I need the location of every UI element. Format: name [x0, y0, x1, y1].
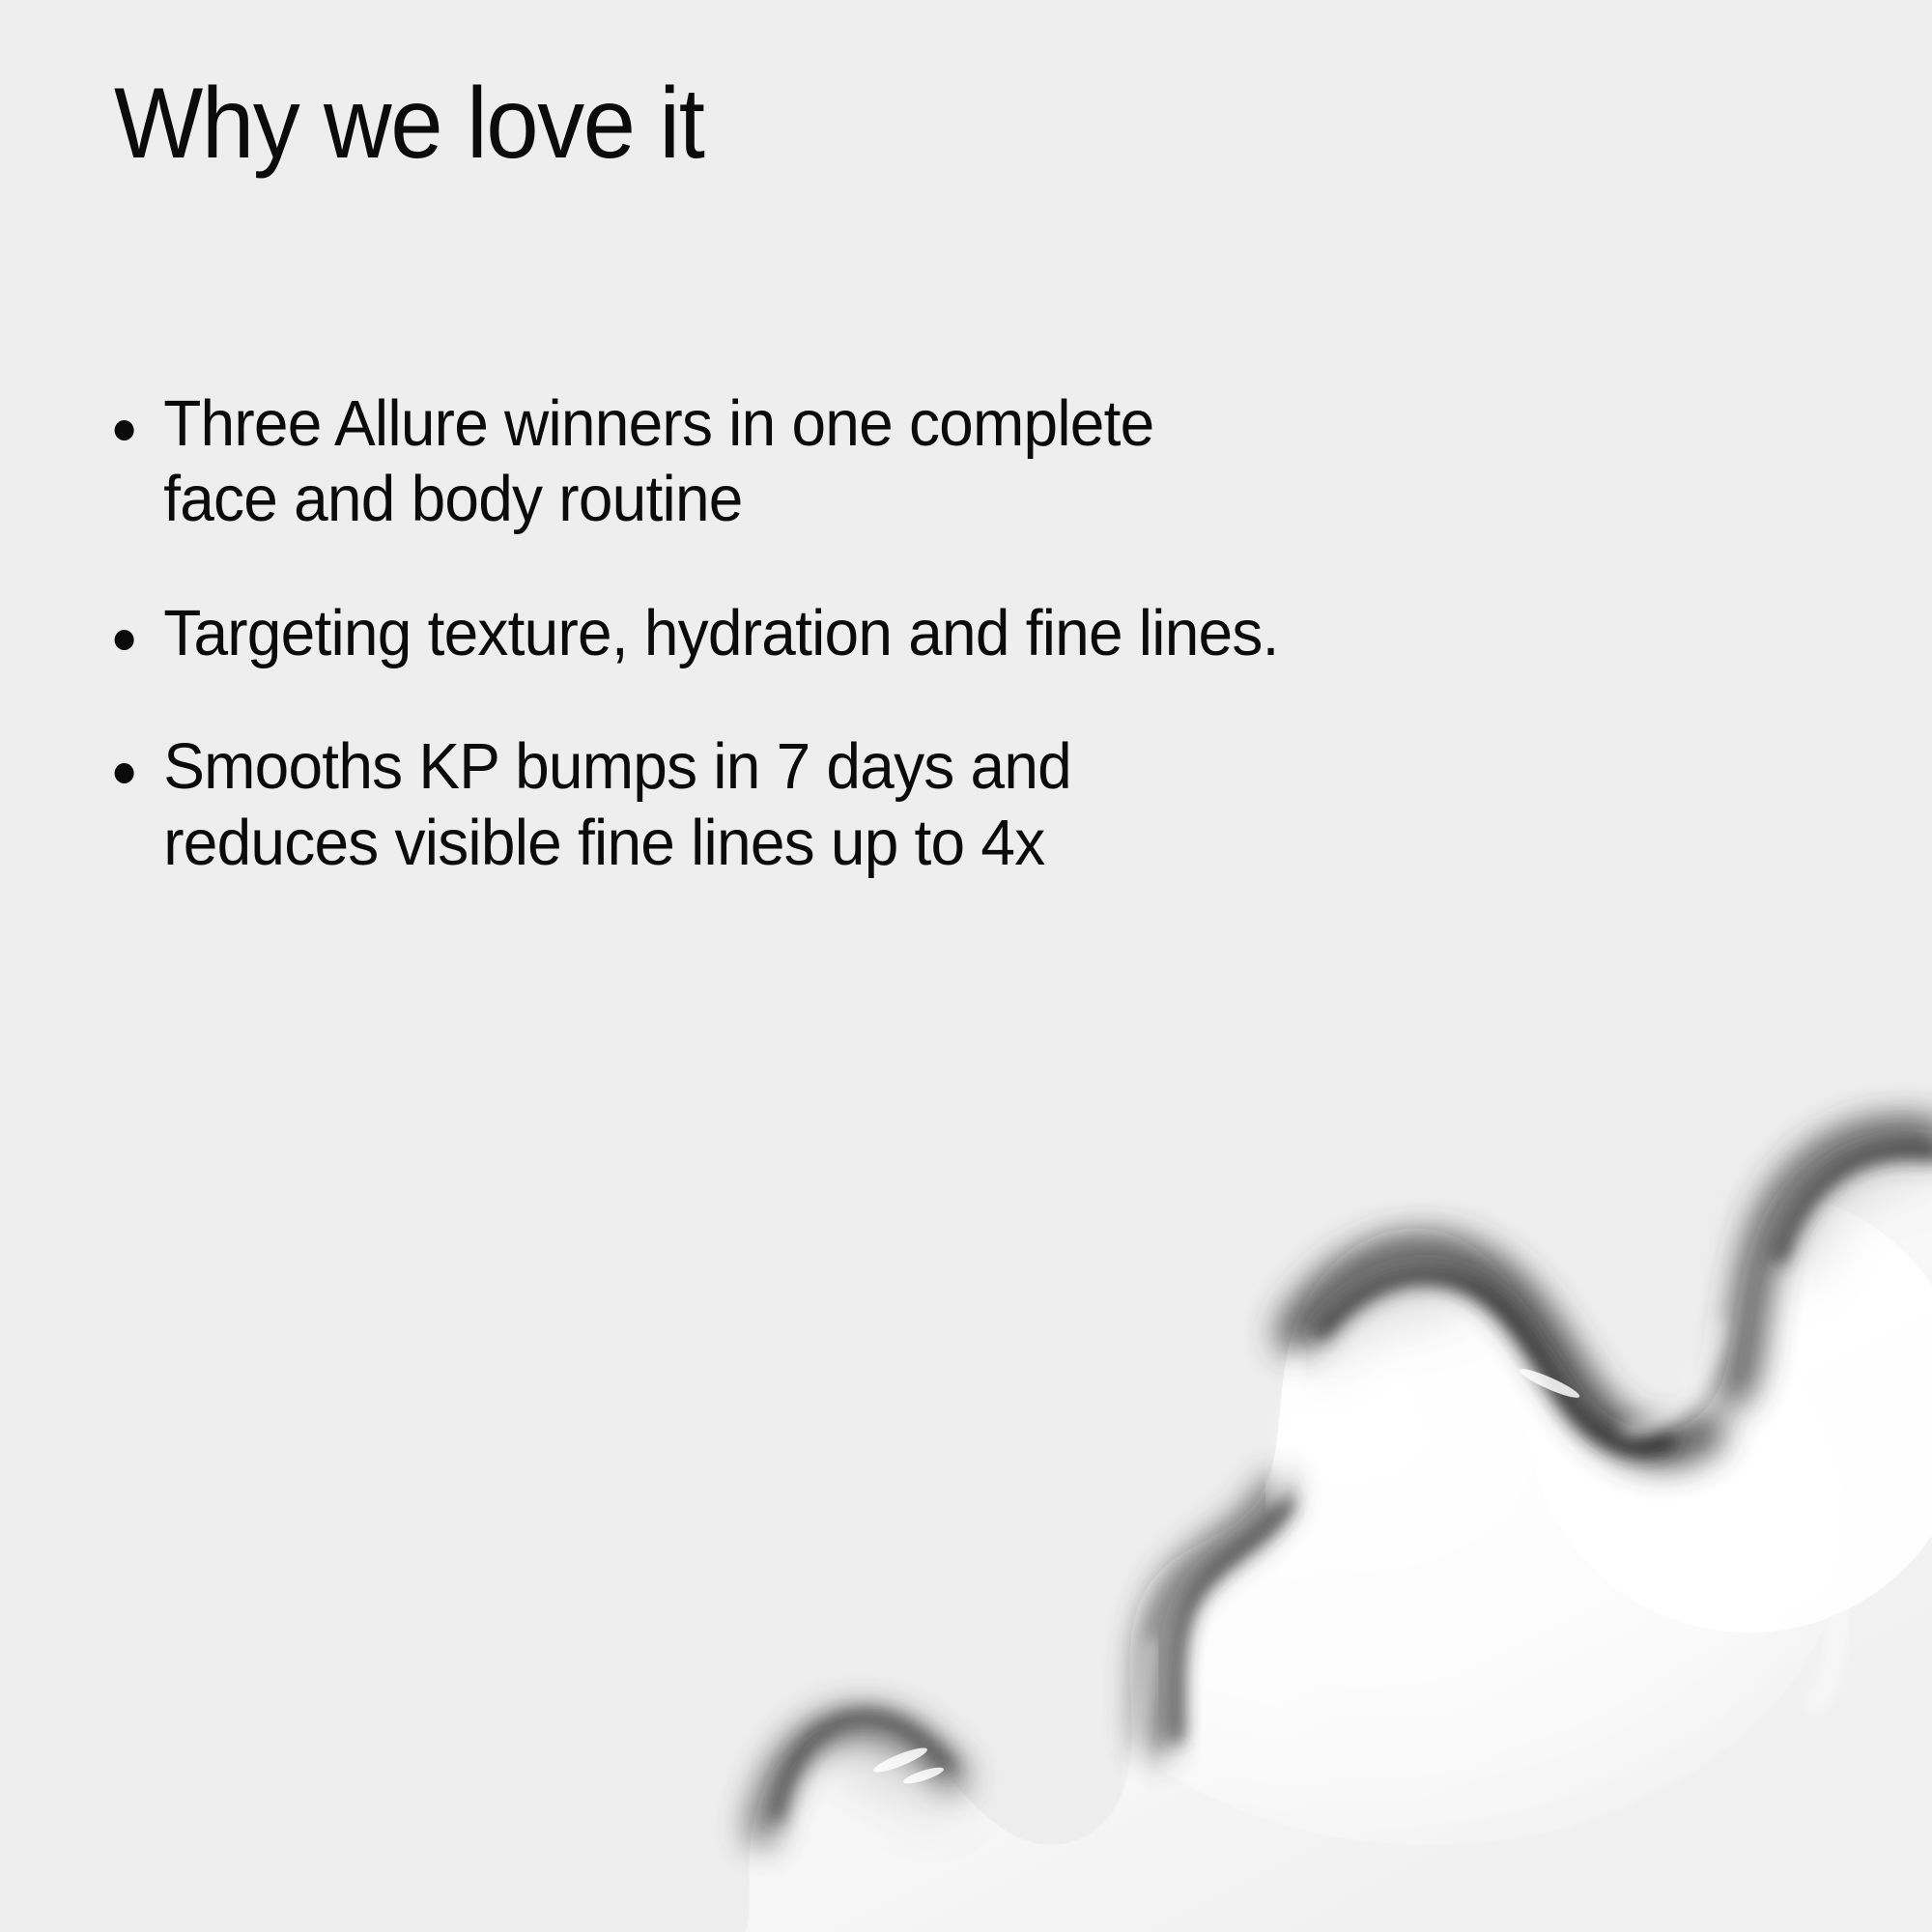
list-item-label: Three Allure winners in one complete fac…: [163, 386, 1767, 538]
list-item-label: Smooths KP bumps in 7 days and reduces v…: [163, 729, 1767, 881]
list-item: Three Allure winners in one complete fac…: [106, 386, 1767, 538]
list-item: Targeting texture, hydration and fine li…: [106, 596, 1767, 671]
bullet-point-icon: [115, 763, 134, 783]
product-benefits-card: Why we love it Three Allure winners in o…: [0, 0, 1932, 1932]
bullet-point-icon: [115, 630, 134, 650]
page-title: Why we love it: [114, 73, 703, 174]
benefits-list: Three Allure winners in one complete fac…: [106, 386, 1845, 881]
list-item-label: Targeting texture, hydration and fine li…: [163, 596, 1767, 671]
list-item: Smooths KP bumps in 7 days and reduces v…: [106, 729, 1767, 881]
clear-gel-serum-swatch-image: [696, 908, 1932, 1932]
bullet-point-icon: [115, 420, 134, 440]
